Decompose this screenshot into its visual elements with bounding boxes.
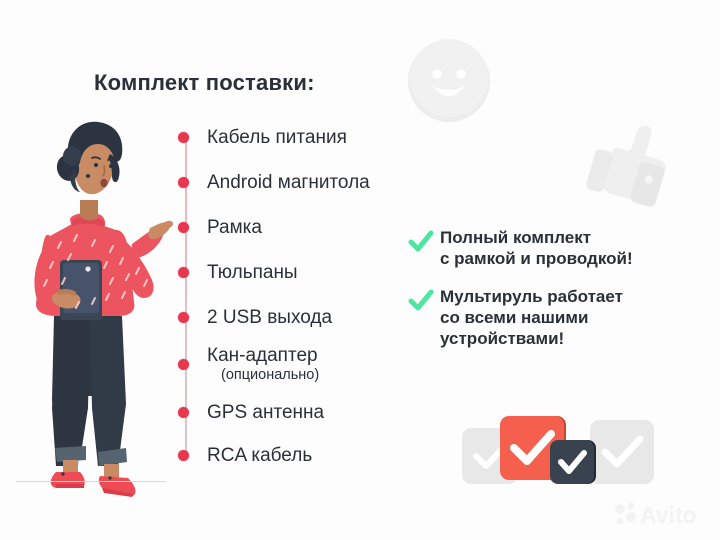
bullet-dot-icon: [178, 407, 189, 418]
thumbs-up-icon: [578, 114, 682, 224]
benefit-label: Полный комплект с рамкой и проводкой!: [440, 228, 633, 269]
green-check-icon: [408, 288, 434, 314]
green-check-icon: [408, 229, 434, 255]
smiley-face-icon: [406, 38, 492, 124]
list-item-optional: Кан-адаптер (опционально): [178, 346, 319, 383]
checkbox-card-dark: [550, 440, 594, 484]
benefits-block: Полный комплект с рамкой и проводкой! Му…: [408, 228, 698, 368]
list-item: GPS антенна: [178, 403, 324, 423]
bullet-dot-icon: [178, 222, 189, 233]
list-item: Кабель питания: [178, 128, 347, 148]
list-item: Тюльпаны: [178, 263, 298, 283]
list-item: RCA кабель: [178, 446, 312, 466]
bullet-dot-icon: [178, 312, 189, 323]
benefit-row: Полный комплект с рамкой и проводкой!: [408, 228, 698, 269]
list-item-label: 2 USB выхода: [207, 308, 332, 328]
list-item: Android магнитола: [178, 173, 370, 193]
list-item: Рамка: [178, 218, 262, 238]
checkbox-cards-group: [462, 412, 662, 492]
list-item-sublabel: (опционально): [221, 367, 319, 383]
list-item-label: Тюльпаны: [207, 263, 298, 283]
benefit-label: Мультируль работает со всеми нашими устр…: [440, 287, 623, 349]
checkbox-card-grey-right: [590, 420, 654, 484]
list-item-label: Android магнитола: [207, 173, 370, 193]
bullet-dot-icon: [178, 177, 189, 188]
benefit-row: Мультируль работает со всеми нашими устр…: [408, 287, 698, 349]
list-item-label: Рамка: [207, 218, 262, 238]
list-item-label: Кан-адаптер: [207, 346, 319, 366]
list-item-label: RCA кабель: [207, 446, 312, 466]
bullet-dot-icon: [178, 450, 189, 461]
bullet-dot-icon: [178, 267, 189, 278]
avito-wordmark: Avito: [640, 502, 697, 528]
list-item-label: GPS антенна: [207, 403, 324, 423]
list-item-label: Кабель питания: [207, 128, 347, 148]
list-item: 2 USB выхода: [178, 308, 332, 328]
ground-line: [16, 481, 166, 482]
page-title: Комплект поставки:: [94, 70, 315, 96]
woman-pointing-illustration: [6, 108, 176, 508]
avito-logo-icon: Avito: [612, 500, 708, 528]
bullet-dot-icon: [178, 359, 189, 370]
bullet-dot-icon: [178, 132, 189, 143]
poster-canvas: Комплект поставки:: [0, 0, 720, 540]
